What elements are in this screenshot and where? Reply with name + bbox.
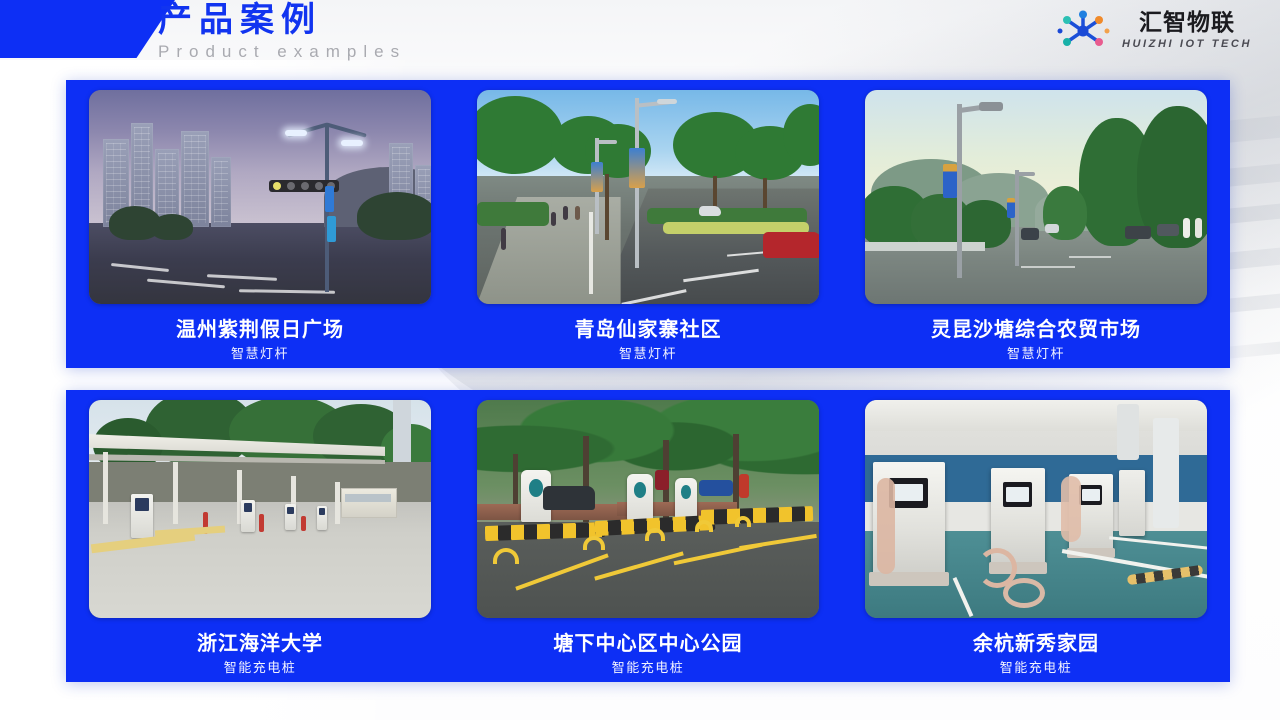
case-thumbnail — [89, 90, 431, 304]
case-thumbnail — [89, 400, 431, 618]
case-title: 浙江海洋大学 — [197, 631, 323, 655]
case-title: 灵昆沙塘综合农贸市场 — [931, 317, 1141, 341]
case-thumbnail — [477, 400, 819, 618]
outdoor-parking-chargers-scene — [477, 400, 819, 618]
case-subtitle: 智慧灯杆 — [619, 347, 677, 363]
case-subtitle: 智能充电桩 — [224, 661, 297, 677]
case-subtitle: 智慧灯杆 — [231, 347, 289, 363]
case-thumbnail — [477, 90, 819, 304]
case-row-1: 温州紫荆假日广场 智慧灯杆 — [66, 80, 1230, 368]
case-title: 青岛仙家寨社区 — [575, 317, 722, 341]
slide-header: 产品案例 Product examples — [0, 0, 1280, 62]
case-card[interactable]: 温州紫荆假日广场 智慧灯杆 — [66, 80, 454, 368]
community-street-scene — [477, 90, 819, 304]
case-card[interactable]: 灵昆沙塘综合农贸市场 智慧灯杆 — [842, 80, 1230, 368]
case-card[interactable]: 余杭新秀家园 智能充电桩 — [842, 390, 1230, 682]
canopy-charging-station-scene — [89, 400, 431, 618]
header-accent-wedge — [0, 0, 175, 58]
case-title: 塘下中心区中心公园 — [554, 631, 743, 655]
dusk-city-street-scene — [89, 90, 431, 304]
page-subtitle: Product examples — [158, 42, 406, 62]
brand-name-cn: 汇智物联 — [1139, 11, 1235, 36]
case-row-2: 浙江海洋大学 智能充电桩 — [66, 390, 1230, 682]
case-card[interactable]: 浙江海洋大学 智能充电桩 — [66, 390, 454, 682]
case-subtitle: 智能充电桩 — [612, 661, 685, 677]
case-card[interactable]: 青岛仙家寨社区 智慧灯杆 — [454, 80, 842, 368]
brand-text: 汇智物联 HUIZHI IOT TECH — [1122, 11, 1252, 52]
case-thumbnail — [865, 400, 1207, 618]
case-card[interactable]: 塘下中心区中心公园 智能充电桩 — [454, 390, 842, 682]
molecule-network-icon — [1057, 10, 1113, 52]
case-title: 余杭新秀家园 — [973, 631, 1099, 655]
brand-logo: 汇智物联 HUIZHI IOT TECH — [1057, 10, 1252, 52]
market-road-scene — [865, 90, 1207, 304]
case-subtitle: 智慧灯杆 — [1007, 347, 1065, 363]
page-title: 产品案例 — [158, 0, 406, 42]
brand-name-en: HUIZHI IOT TECH — [1122, 36, 1252, 52]
page-title-block: 产品案例 Product examples — [158, 0, 406, 62]
case-thumbnail — [865, 90, 1207, 304]
case-subtitle: 智能充电桩 — [1000, 661, 1073, 677]
indoor-garage-chargers-scene — [865, 400, 1207, 618]
slide-canvas: 产品案例 Product examples — [0, 0, 1280, 720]
case-title: 温州紫荆假日广场 — [176, 317, 344, 341]
